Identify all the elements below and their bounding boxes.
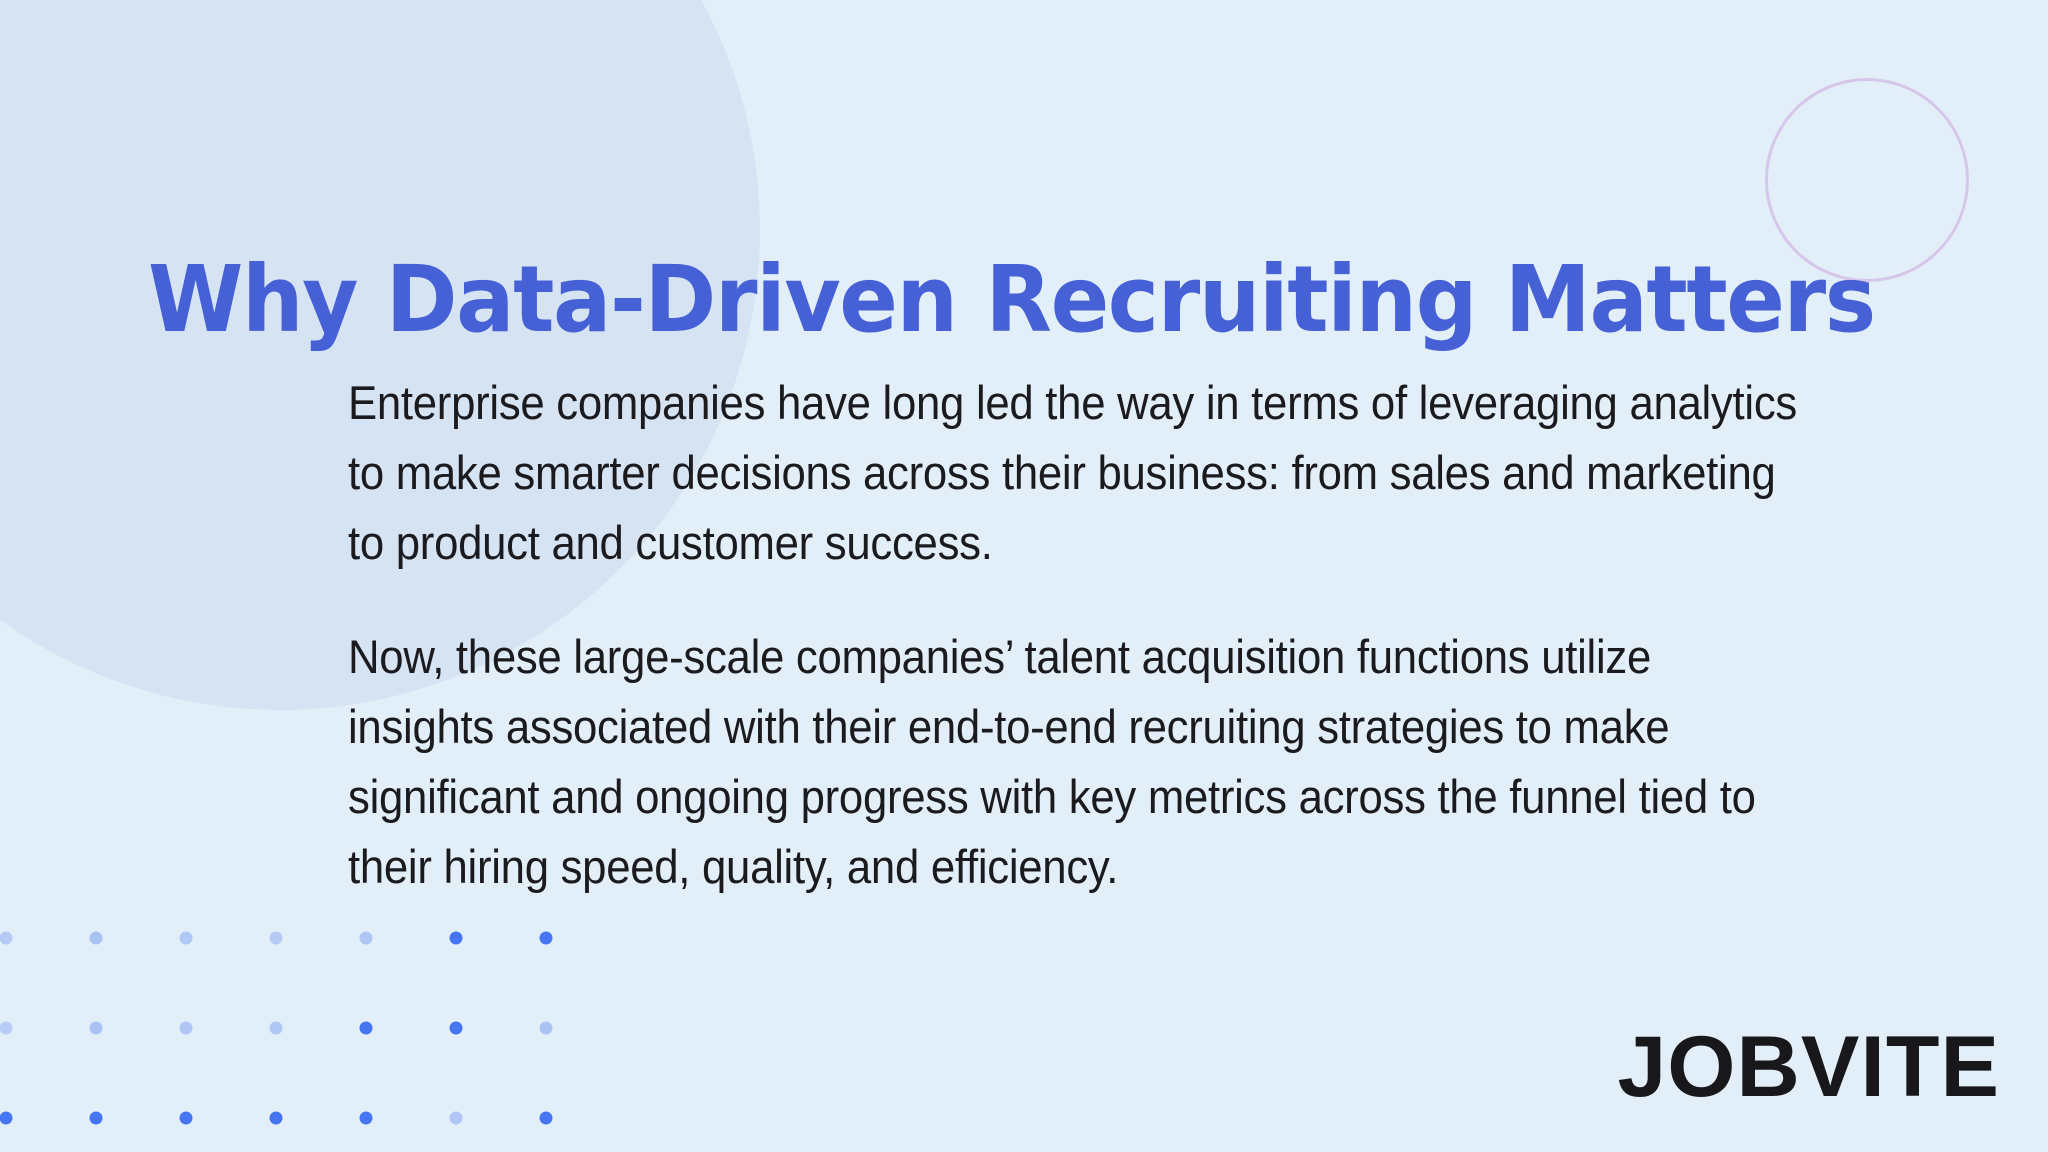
jobvite-logo: JOBVITE [1618, 1024, 2000, 1110]
slide-content: Why Data-Driven Recruiting Matters Enter… [0, 0, 2048, 1152]
body-copy: Enterprise companies have long led the w… [348, 368, 1908, 902]
body-paragraph-1: Enterprise companies have long led the w… [348, 368, 1799, 578]
page-title: Why Data-Driven Recruiting Matters [148, 254, 1875, 346]
body-paragraph-2: Now, these large-scale companies’ talent… [348, 622, 1799, 902]
slide-canvas: Why Data-Driven Recruiting Matters Enter… [0, 0, 2048, 1152]
